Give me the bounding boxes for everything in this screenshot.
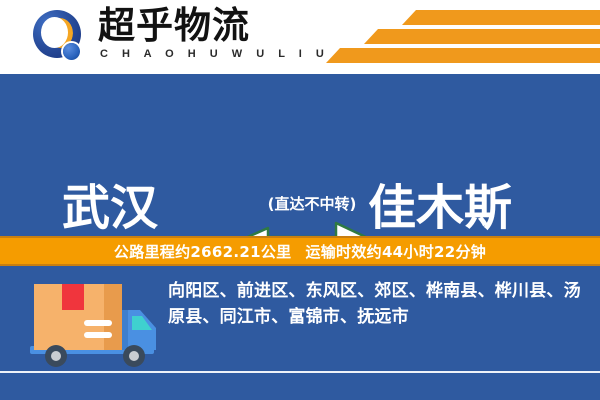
coverage-section: 向阳区、前进区、东风区、郊区、桦南县、桦川县、汤原县、同江市、富锦市、抚远市 [0,266,600,400]
duration-text: 运输时效约44小时22分钟 [305,241,486,262]
header-stripe-3 [326,48,600,63]
bottom-divider [0,371,600,373]
header-bar: 超乎物流 C H A O H U W U L I U [0,0,600,74]
chaohu-circle-logo-icon [33,10,89,66]
route-banner: 武汉 (直达不中转) 【往返运输】 佳木斯 [0,74,600,234]
brand-name-cn: 超乎物流 [98,6,250,46]
route-info-bar: 公路里程约2662.21公里 运输时效约44小时22分钟 [0,236,600,266]
header-stripes-decoration [300,0,600,74]
header-stripe-2 [364,29,600,44]
coverage-areas-text: 向阳区、前进区、东风区、郊区、桦南县、桦川县、汤原县、同江市、富锦市、抚远市 [168,278,588,330]
logistics-route-poster: 超乎物流 C H A O H U W U L I U 武汉 (直达不中转) 【往… [0,0,600,400]
distance-text: 公路里程约2662.21公里 [114,241,292,262]
origin-city: 武汉 [62,182,158,234]
brand-name-pinyin: C H A O H U W U L I U [100,48,329,60]
logo-accent-dot [63,43,80,60]
delivery-truck-icon [28,276,168,376]
route-note-direct: (直达不中转) [247,193,377,214]
logo-crescent-cutout [41,17,68,48]
destination-city: 佳木斯 [368,182,512,234]
header-stripe-1 [402,10,600,25]
